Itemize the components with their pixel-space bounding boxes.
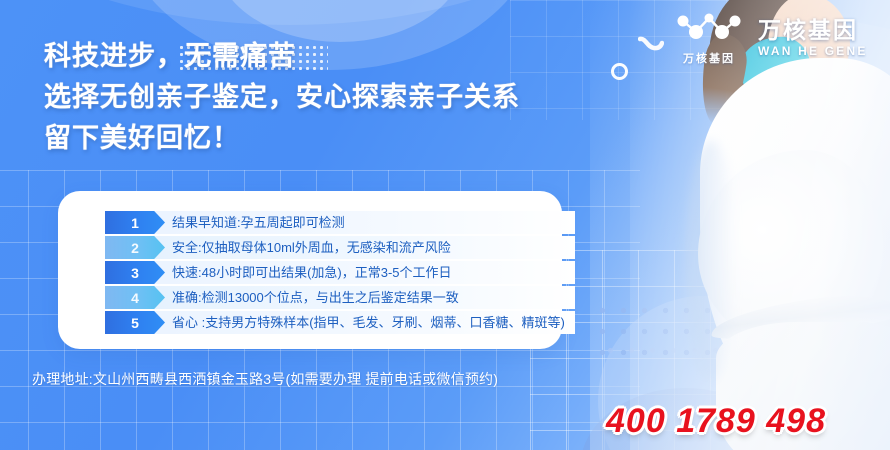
- feature-number: 1: [131, 215, 139, 231]
- feature-text: 省心 :支持男方特殊样本(指甲、毛发、牙刷、烟蒂、口香糖、精斑等): [172, 311, 565, 334]
- brand-logo[interactable]: 万核基因 万核基因 WAN HE GENE: [672, 10, 868, 66]
- molecule-node-icon: [674, 10, 744, 49]
- feature-row: 5 省心 :支持男方特殊样本(指甲、毛发、牙刷、烟蒂、口香糖、精斑等): [105, 311, 575, 334]
- top-arc-large: [0, 0, 640, 25]
- feature-list: 1 结果早知道:孕五周起即可检测 2 安全:仅抽取母体10ml外周血，无感染和流…: [105, 211, 575, 334]
- feature-number-badge: 2: [105, 236, 165, 259]
- logo-name-cn: 万核基因: [758, 18, 868, 42]
- feature-row: 2 安全:仅抽取母体10ml外周血，无感染和流产风险: [105, 236, 575, 259]
- promo-banner: 万核基因 万核基因 WAN HE GENE 科技进步，无需痛苦 选择无创亲子鉴定…: [0, 0, 890, 450]
- feature-number: 2: [131, 240, 139, 256]
- office-address: 办理地址:文山州西畴县西洒镇金玉路3号(如需要办理 提前电话或微信预约): [32, 369, 498, 389]
- feature-number-badge: 4: [105, 286, 165, 309]
- feature-text: 结果早知道:孕五周起即可检测: [172, 211, 345, 234]
- feature-text: 快速:48小时即可出结果(加急)，正常3-5个工作日: [172, 261, 452, 284]
- feature-number-badge: 1: [105, 211, 165, 234]
- hotline-phone-number[interactable]: 400 1789 498: [606, 402, 826, 441]
- feature-row: 4 准确:检测13000个位点，与出生之后鉴定结果一致: [105, 286, 575, 309]
- feature-number-badge: 5: [105, 311, 165, 334]
- logo-wordmark: 万核基因 WAN HE GENE: [758, 18, 868, 58]
- logo-mark: 万核基因: [672, 10, 746, 66]
- feature-number-badge: 3: [105, 261, 165, 284]
- feature-number: 5: [131, 315, 139, 331]
- headline-line-3: 留下美好回忆！: [44, 118, 520, 159]
- logo-mark-label: 万核基因: [683, 50, 735, 66]
- feature-text: 安全:仅抽取母体10ml外周血，无感染和流产风险: [172, 236, 451, 259]
- feature-row: 1 结果早知道:孕五周起即可检测: [105, 211, 575, 234]
- feature-number: 3: [131, 265, 139, 281]
- photo-light-wash: [630, 0, 890, 450]
- feature-row: 3 快速:48小时即可出结果(加急)，正常3-5个工作日: [105, 261, 575, 284]
- headline-line-2: 选择无创亲子鉴定，安心探索亲子关系: [44, 77, 520, 118]
- logo-name-en: WAN HE GENE: [758, 45, 868, 58]
- feature-number: 4: [131, 290, 139, 306]
- headline-block: 科技进步，无需痛苦 选择无创亲子鉴定，安心探索亲子关系 留下美好回忆！: [44, 36, 520, 159]
- feature-text: 准确:检测13000个位点，与出生之后鉴定结果一致: [172, 286, 459, 309]
- headline-line-1: 科技进步，无需痛苦: [44, 36, 520, 77]
